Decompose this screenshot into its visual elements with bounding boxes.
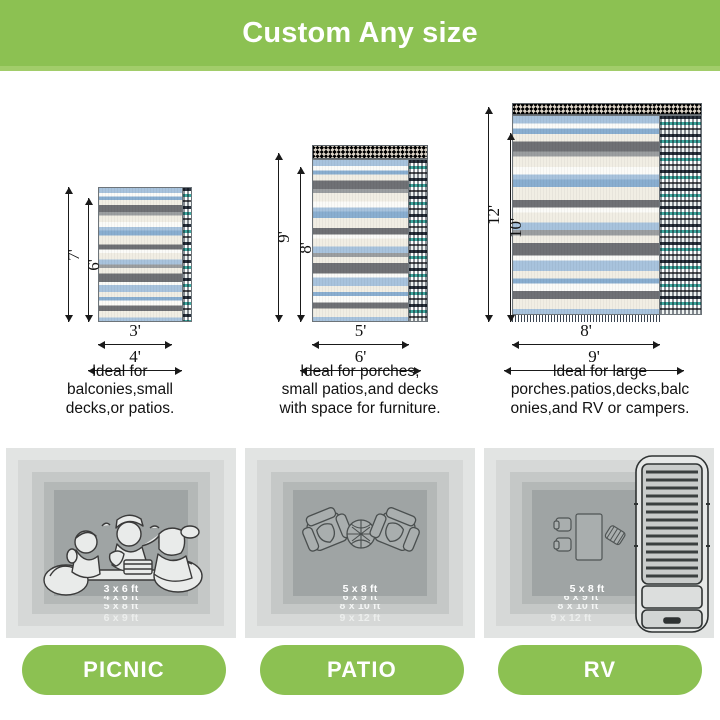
dimension-label-outer-height: 12' — [484, 197, 504, 233]
category-pill-label: PATIO — [327, 657, 397, 683]
category-pill-row: PICNIC PATIO RV — [0, 645, 720, 705]
patio-furniture-icon — [299, 506, 423, 564]
size-label-1: 5 x 8 ft — [532, 583, 642, 595]
caption-medium-rug: ldeal for porches,small patios,and decks… — [245, 363, 475, 418]
caption-large-rug: ldeal for largeporches.patios,decks,balc… — [480, 363, 720, 418]
rug-illustration-large — [512, 103, 702, 322]
rug-top-zigzag-band — [312, 145, 428, 159]
rug-body — [312, 159, 428, 322]
rug-illustration-medium — [312, 145, 428, 322]
dimension-label-outer-height: 9' — [274, 222, 294, 252]
rug-top-zigzag-band — [512, 103, 702, 115]
diagram-small-rug: 7' 6' 3' 4' ldeal forbalconies,smalldeck… — [0, 75, 240, 425]
caption-small-rug: ldeal forbalconies,smalldecks,or patios. — [14, 363, 226, 418]
rug-body — [98, 187, 192, 322]
dimension-label-inner-width: 8' — [512, 321, 660, 341]
category-pill-picnic[interactable]: PICNIC — [22, 645, 226, 695]
rug-border-band — [408, 160, 427, 321]
dimension-label-outer-height: 7' — [64, 240, 84, 270]
dimension-label-inner-width: 3' — [98, 321, 172, 341]
scene-panel-row: 6 x 9 ft 5 x 8 ft 4 x 6 ft 3 x 6 ft — [0, 448, 720, 640]
category-pill-label: RV — [584, 657, 617, 683]
dimension-label-inner-width: 5' — [312, 321, 409, 341]
category-pill-patio[interactable]: PATIO — [260, 645, 464, 695]
rv-patio-furniture-icon — [546, 508, 628, 566]
rv-camper-icon — [630, 450, 714, 638]
rug-weave-texture — [99, 188, 191, 321]
scene-panel-patio: 9 x 12 ft 8 x 10 ft 6 x 9 ft 5 x 8 ft — [245, 448, 475, 638]
rug-border-band — [182, 188, 191, 321]
rug-illustration-small — [98, 187, 192, 322]
header-banner: Custom Any size — [0, 0, 720, 66]
category-pill-rv[interactable]: RV — [498, 645, 702, 695]
rug-diagram-row: 7' 6' 3' 4' ldeal forbalconies,smalldeck… — [0, 75, 720, 425]
dimension-label-inner-height: 6' — [84, 250, 104, 280]
page-title: Custom Any size — [242, 17, 478, 50]
dimension-line-inner-width — [512, 344, 660, 345]
diagram-medium-rug: 9' 8' 5' 6' ldeal for porches,small pati… — [240, 75, 480, 425]
dimension-label-inner-height: 10' — [506, 210, 526, 246]
infographic-page: Custom Any size 7' 6' 3' 4' ldeal for — [0, 0, 720, 720]
rug-border-band — [659, 116, 701, 314]
rug-body — [512, 115, 702, 315]
picnic-scene-icon — [28, 484, 218, 602]
scene-panel-rv: 9 x 12 ft 8 x 10 ft 6 x 9 ft 5 x 8 ft — [484, 448, 714, 638]
category-pill-label: PICNIC — [83, 657, 165, 683]
size-label-1: 5 x 8 ft — [293, 583, 427, 595]
dimension-label-inner-height: 8' — [296, 233, 316, 263]
header-underline — [0, 66, 720, 71]
diagram-large-rug: 12' 10' 8' 9' ldeal for largeporches.pat… — [480, 75, 720, 425]
scene-panel-picnic: 6 x 9 ft 5 x 8 ft 4 x 6 ft 3 x 6 ft — [6, 448, 236, 638]
dimension-line-inner-width — [312, 344, 409, 345]
rug-stripes — [99, 188, 191, 321]
dimension-line-inner-width — [98, 344, 172, 345]
